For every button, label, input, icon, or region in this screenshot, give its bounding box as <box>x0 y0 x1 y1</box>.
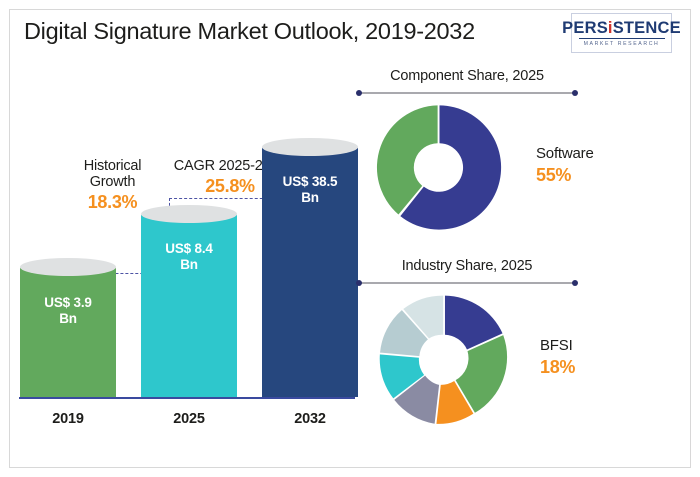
component-share-title-rule <box>358 92 576 94</box>
bar-2019-fill <box>20 267 116 397</box>
header: Digital Signature Market Outlook, 2019-2… <box>10 10 680 62</box>
logo-word-part1: PERS <box>562 19 608 37</box>
industry-donut-slices <box>380 296 507 424</box>
bar-baseline-axis <box>19 397 355 399</box>
bar-2032[interactable]: US$ 38.5Bn <box>262 147 358 397</box>
historical-growth-label-line1: Historical <box>60 158 165 174</box>
bar-chart: Historical Growth 18.3% CAGR 2025-2032 2… <box>10 62 355 457</box>
infographic-root: Digital Signature Market Outlook, 2019-2… <box>0 0 700 477</box>
industry-share-title-rule <box>358 282 576 284</box>
bar-2019-top-cap <box>20 258 116 276</box>
logo-tagline: MARKET RESEARCH <box>584 41 660 47</box>
bar-2019[interactable]: US$ 3.9Bn <box>20 267 116 397</box>
component-share-donut[interactable] <box>372 100 507 235</box>
bar-2025-category-label: 2025 <box>141 411 237 427</box>
bar-2019-category-label: 2019 <box>20 411 116 427</box>
bar-2025-top-cap <box>141 205 237 223</box>
donut-charts-panel: Component Share, 2025 Software 55% Indus… <box>358 62 683 457</box>
industry-share-legend: BFSI 18% <box>540 337 575 378</box>
logo-word-part2: STENCE <box>613 19 681 37</box>
component-share-legend-value: 55% <box>536 165 594 186</box>
historical-growth-label-line2: Growth <box>60 174 165 190</box>
bar-2032-value-label: US$ 38.5Bn <box>262 174 358 206</box>
component-share-legend: Software 55% <box>536 145 594 186</box>
logo-wordmark: PERSiSTENCE <box>562 20 681 37</box>
component-share-legend-label: Software <box>536 145 594 162</box>
bar-2025[interactable]: US$ 8.4Bn <box>141 214 237 397</box>
historical-growth-callout: Historical Growth 18.3% <box>60 158 165 213</box>
bar-2032-top-cap <box>262 138 358 156</box>
industry-share-title: Industry Share, 2025 <box>358 258 576 274</box>
bar-2019-value-label: US$ 3.9Bn <box>20 295 116 327</box>
logo-divider <box>579 38 665 39</box>
industry-share-donut[interactable] <box>374 290 514 430</box>
bar-2032-category-label: 2032 <box>262 411 358 427</box>
industry-share-legend-label: BFSI <box>540 337 575 354</box>
industry-share-legend-value: 18% <box>540 357 575 378</box>
page-title: Digital Signature Market Outlook, 2019-2… <box>24 18 475 45</box>
bar-2025-value-label: US$ 8.4Bn <box>141 241 237 273</box>
brand-logo: PERSiSTENCE MARKET RESEARCH <box>571 13 672 53</box>
component-share-title: Component Share, 2025 <box>358 68 576 84</box>
